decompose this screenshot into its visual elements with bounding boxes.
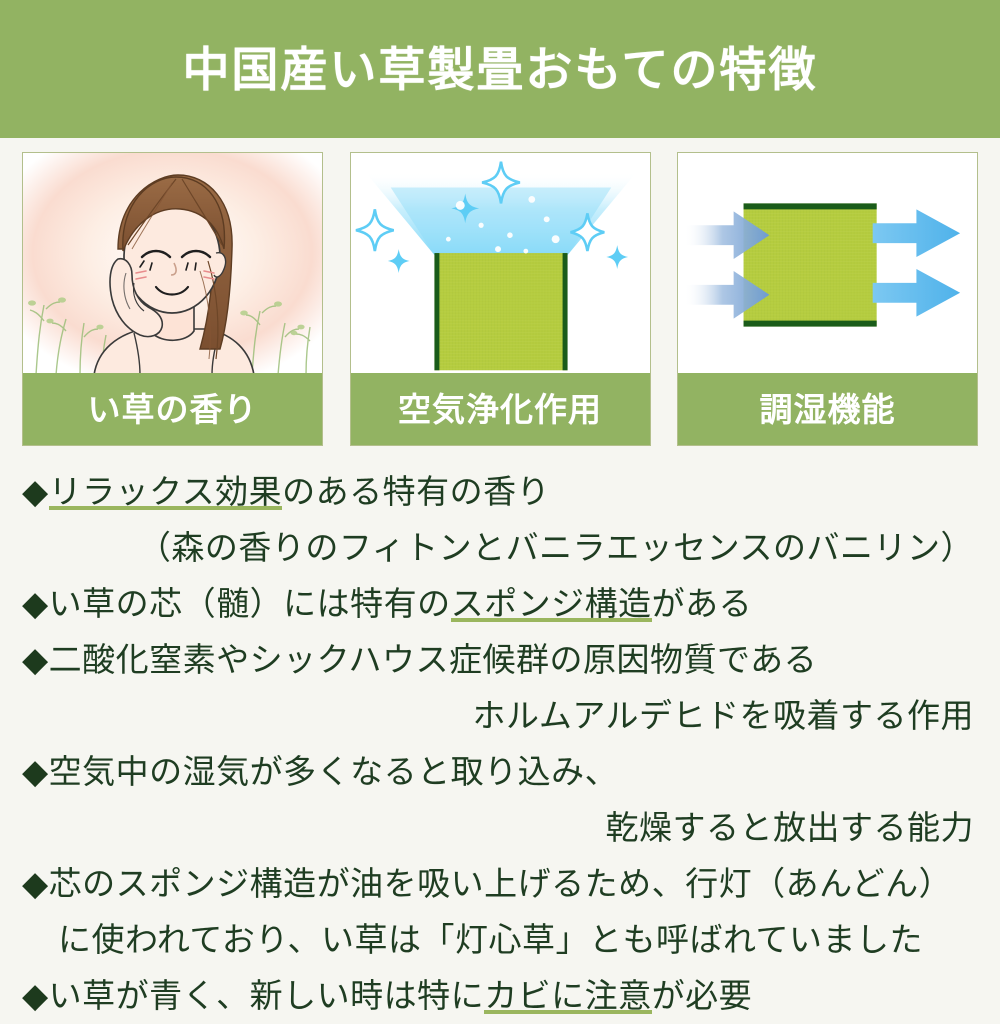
diamond-bullet-icon: ◆: [22, 473, 49, 511]
feature-card-label-text: 空気浄化作用: [398, 393, 602, 426]
bullet-text: い草の芯（髄）には特有の: [49, 585, 451, 622]
bullet-item: ◆い草の芯（髄）には特有のスポンジ構造がある: [0, 576, 1000, 632]
bullet-item: ◆二酸化窒素やシックハウス症候群の原因物質である: [0, 632, 1000, 688]
bullet-continuation: 乾燥すると放出する能力: [0, 800, 1000, 856]
bullet-item: ◆い草が青く、新しい時は特にカビに注意が必要: [0, 968, 1000, 1024]
feature-card-label-air-purification: 空気浄化作用: [351, 373, 650, 445]
diamond-bullet-icon: ◆: [22, 585, 49, 623]
bullet-text: 乾燥すると放出する能力: [606, 809, 975, 846]
humidity-control-art: [678, 153, 977, 375]
bullet-text: 芯のスポンジ構造が油を吸い上げるため、行灯（あんどん）: [49, 865, 953, 902]
feature-card-label-humidity-control: 調湿機能: [678, 373, 977, 445]
bullet-continuation: に使われており、い草は「灯心草」とも呼ばれていました: [0, 912, 1000, 968]
bullet-text: が必要: [652, 977, 753, 1014]
diamond-bullet-icon: ◆: [22, 865, 49, 903]
diamond-bullet-icon: ◆: [22, 753, 49, 791]
bullet-text: （森の香りのフィトンとバニラエッセンスのバニリン）: [138, 529, 974, 566]
bullet-continuation: （森の香りのフィトンとバニラエッセンスのバニリン）: [0, 520, 1000, 576]
bullet-text: 二酸化窒素やシックハウス症候群の原因物質である: [49, 641, 818, 678]
bullet-highlight-text: スポンジ構造: [451, 585, 652, 625]
bullet-text: がある: [652, 585, 753, 622]
bullet-item: ◆芯のスポンジ構造が油を吸い上げるため、行灯（あんどん）: [0, 856, 1000, 912]
bullet-item: ◆空気中の湿気が多くなると取り込み、: [0, 744, 1000, 800]
air-purification-art: [351, 153, 650, 375]
feature-card-row: い草の香り: [22, 152, 978, 448]
page-title: 中国産い草製畳おもての特徴: [182, 46, 817, 93]
header-band: 中国産い草製畳おもての特徴: [0, 0, 1000, 138]
bullet-highlight-text: カビに注意: [484, 977, 652, 1017]
feature-card-label-fragrance: い草の香り: [23, 373, 322, 445]
bullet-continuation: ホルムアルデヒドを吸着する作用: [0, 688, 1000, 744]
feature-card-label-text: い草の香り: [88, 393, 258, 426]
feature-card-fragrance: い草の香り: [22, 152, 323, 446]
bullet-text: に使われており、い草は「灯心草」とも呼ばれていました: [58, 921, 923, 958]
bullet-text: のある特有の香り: [282, 473, 550, 510]
bullet-item: ◆リラックス効果のある特有の香り: [0, 464, 1000, 520]
feature-card-humidity-control: 調湿機能: [677, 152, 978, 446]
rush-grass-fragrance-art: [23, 153, 322, 375]
bullet-text: い草が青く、新しい時は特に: [49, 977, 485, 1014]
infographic-page: 中国産い草製畳おもての特徴: [0, 0, 1000, 1000]
feature-card-label-text: 調湿機能: [760, 393, 896, 426]
feature-card-air-purification: 空気浄化作用: [350, 152, 651, 446]
feature-bullet-list: ◆リラックス効果のある特有の香り（森の香りのフィトンとバニラエッセンスのバニリン…: [0, 464, 1000, 1000]
bullet-text: ホルムアルデヒドを吸着する作用: [472, 697, 974, 734]
bullet-text: 空気中の湿気が多くなると取り込み、: [49, 753, 619, 790]
diamond-bullet-icon: ◆: [22, 641, 49, 679]
diamond-bullet-icon: ◆: [22, 977, 49, 1015]
bullet-highlight-text: リラックス効果: [49, 473, 283, 513]
